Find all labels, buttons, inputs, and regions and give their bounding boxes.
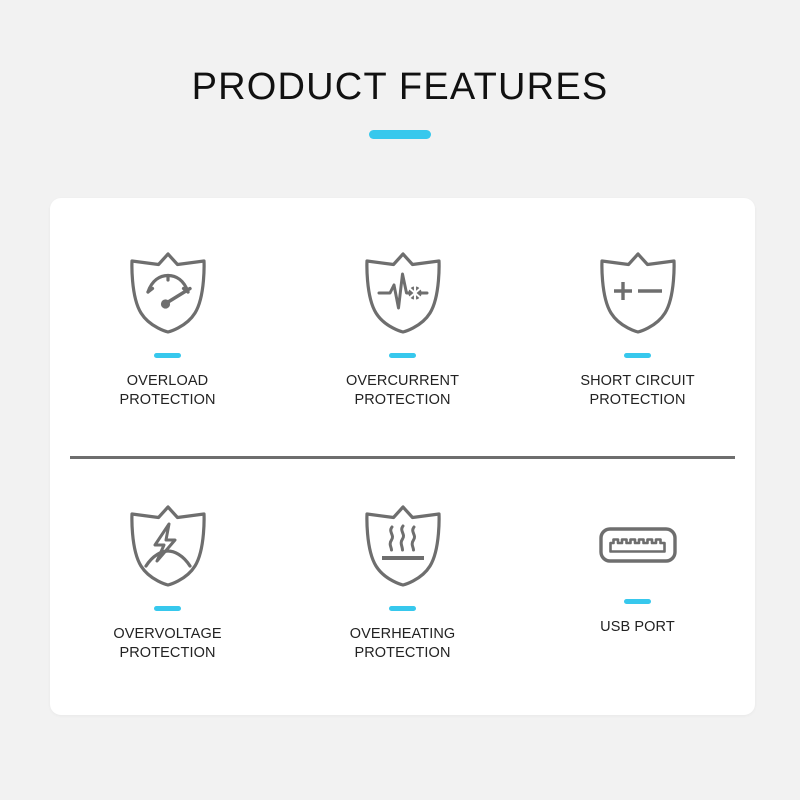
accent-bar: [389, 353, 416, 358]
accent-bar: [154, 353, 181, 358]
accent-bar: [389, 606, 416, 611]
features-row-top: OVERLOAD PROTECTION OVERCURREN: [50, 198, 755, 457]
header: PRODUCT FEATURES: [0, 68, 800, 139]
shield-waveform-burst-icon: [355, 244, 451, 340]
accent-bar: [624, 599, 651, 604]
feature-label: OVERHEATING PROTECTION: [350, 625, 456, 663]
feature-label: OVERVOLTAGE PROTECTION: [113, 625, 221, 663]
row-divider: [70, 456, 735, 459]
shield-gauge-icon: [120, 244, 216, 340]
feature-item-overheating-protection[interactable]: OVERHEATING PROTECTION: [285, 457, 520, 716]
feature-item-overload-protection[interactable]: OVERLOAD PROTECTION: [50, 204, 285, 457]
product-features-page: PRODUCT FEATURES: [0, 0, 800, 800]
shield-heat-waves-icon: [355, 497, 451, 593]
shield-lightning-icon: [120, 497, 216, 593]
feature-label: OVERLOAD PROTECTION: [119, 372, 215, 410]
usb-port-icon: [590, 515, 686, 575]
feature-item-overcurrent-protection[interactable]: OVERCURRENT PROTECTION: [285, 204, 520, 457]
feature-label: OVERCURRENT PROTECTION: [346, 372, 459, 410]
features-card: OVERLOAD PROTECTION OVERCURREN: [50, 198, 755, 715]
feature-item-overvoltage-protection[interactable]: OVERVOLTAGE PROTECTION: [50, 457, 285, 716]
feature-item-usb-port[interactable]: USB PORT: [520, 457, 755, 716]
feature-label: SHORT CIRCUIT PROTECTION: [580, 372, 694, 410]
feature-label: USB PORT: [600, 618, 675, 637]
accent-bar: [154, 606, 181, 611]
features-row-bottom: OVERVOLTAGE PROTECTION OVERHEATING PROTE…: [50, 457, 755, 716]
feature-item-short-circuit-protection[interactable]: SHORT CIRCUIT PROTECTION: [520, 204, 755, 457]
title-underline-accent: [369, 130, 431, 139]
shield-plus-minus-icon: [590, 244, 686, 340]
page-title: PRODUCT FEATURES: [0, 68, 800, 106]
accent-bar: [624, 353, 651, 358]
